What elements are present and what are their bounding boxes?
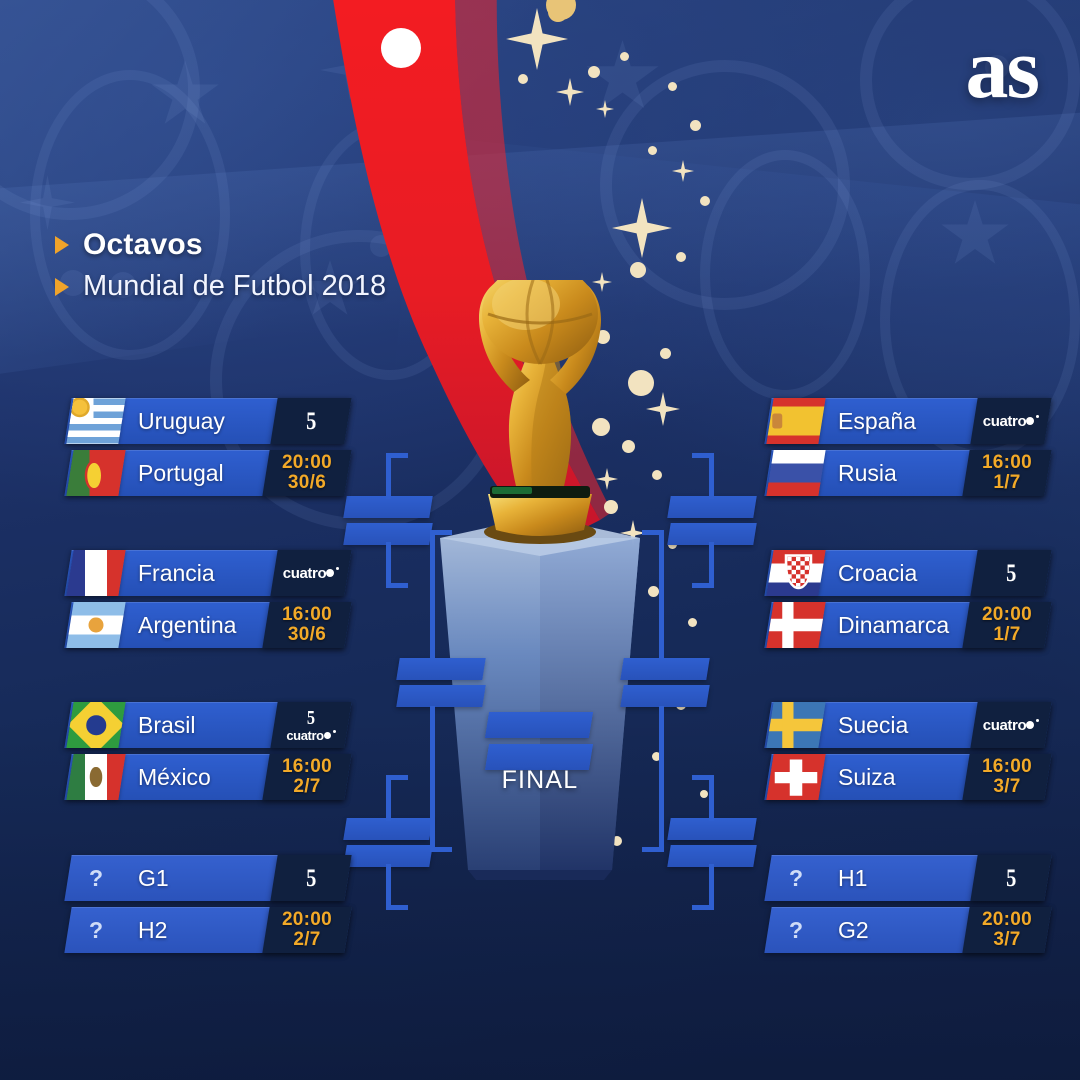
connector-stub <box>692 583 714 588</box>
match-slot-top[interactable]: ?H15 <box>768 855 1048 901</box>
flag-croacia <box>766 550 825 596</box>
chip-content: 16:003/7 <box>982 757 1032 797</box>
match-slot-bottom[interactable]: ?H220:002/7 <box>68 907 348 953</box>
chip-content: 5 <box>305 409 318 434</box>
chip-content: 5cuatro <box>286 708 335 742</box>
channel-logo-slot: 5 <box>305 866 318 891</box>
connector-stub <box>692 775 714 780</box>
slot-content: México16:002/7 <box>68 754 348 800</box>
team-name: H2 <box>122 917 266 944</box>
flag-graphic <box>66 602 125 648</box>
connector-stub <box>430 847 452 852</box>
match-date: 30/6 <box>282 625 332 645</box>
cuatro-logo-dot <box>326 569 334 577</box>
flag-mexico <box>66 754 125 800</box>
match-block[interactable]: ?H15?G220:003/7 <box>768 855 1048 953</box>
team-name: Suiza <box>822 764 966 791</box>
flag-graphic <box>766 550 825 596</box>
slot-content: Rusia16:001/7 <box>768 450 1048 496</box>
team-name: H1 <box>822 865 974 892</box>
match-slot-top[interactable]: Croacia5 <box>768 550 1048 596</box>
match-time-chip: 20:001/7 <box>966 602 1048 648</box>
flag-suecia <box>766 702 825 748</box>
match-slot-top[interactable]: ?G15 <box>68 855 348 901</box>
channel-logo-slot: 5 <box>1005 561 1018 586</box>
slot-content: Argentina16:0030/6 <box>68 602 348 648</box>
team-name: Portugal <box>122 460 266 487</box>
unknown-team-icon: ? <box>770 917 822 944</box>
connector-stub <box>642 530 664 535</box>
qf-slot-bar <box>343 818 432 840</box>
broadcast-channel-chip: 5cuatro <box>274 702 348 748</box>
team-name: Croacia <box>822 560 974 587</box>
match-time-chip: 20:002/7 <box>266 907 348 953</box>
cuatro-logo-accent <box>333 730 336 733</box>
match-date: 3/7 <box>982 777 1032 797</box>
team-name: G1 <box>122 865 274 892</box>
cuatro-logo-accent <box>336 567 339 570</box>
match-slot-bottom[interactable]: México16:002/7 <box>68 754 348 800</box>
chip-content: 16:001/7 <box>982 453 1032 493</box>
match-block[interactable]: Brasil5cuatroMéxico16:002/7 <box>68 702 348 800</box>
flag-graphic <box>766 450 825 496</box>
connector-line <box>430 706 435 852</box>
match-time-chip: 16:003/7 <box>966 754 1048 800</box>
title-row-primary: Octavos <box>55 228 386 262</box>
sf-slot-bar <box>396 658 485 680</box>
match-slot-top[interactable]: Franciacuatro <box>68 550 348 596</box>
slot-content: Croacia5 <box>768 550 1048 596</box>
page-title: Octavos <box>83 228 203 262</box>
team-name: España <box>822 408 974 435</box>
chip-content: cuatro <box>283 566 339 581</box>
match-block[interactable]: SueciacuatroSuiza16:003/7 <box>768 702 1048 800</box>
flag-espana <box>766 398 825 444</box>
connector-stub <box>386 775 408 780</box>
match-time-chip: 20:003/7 <box>966 907 1048 953</box>
as-logo[interactable]: as <box>966 28 1038 110</box>
slot-content: Suiza16:003/7 <box>768 754 1048 800</box>
match-block[interactable]: Croacia5Dinamarca20:001/7 <box>768 550 1048 648</box>
match-date: 30/6 <box>282 473 332 493</box>
chip-content: cuatro <box>983 718 1039 733</box>
connector-line <box>709 775 714 821</box>
flag-uruguay <box>66 398 125 444</box>
cuatro-logo-text: cuatro <box>283 566 326 581</box>
flag-graphic <box>66 702 125 748</box>
match-slot-bottom[interactable]: Suiza16:003/7 <box>768 754 1048 800</box>
telecinco-logo: 5 <box>1006 561 1016 586</box>
cuatro-logo: cuatro <box>286 729 335 742</box>
match-slot-bottom[interactable]: Rusia16:001/7 <box>768 450 1048 496</box>
slot-content: Uruguay5 <box>68 398 348 444</box>
triangle-right-icon <box>55 278 69 296</box>
match-date: 2/7 <box>282 777 332 797</box>
slot-content: ?H15 <box>768 855 1048 901</box>
cuatro-logo-text: cuatro <box>286 729 323 742</box>
team-name: Uruguay <box>122 408 274 435</box>
flag-brasil <box>66 702 125 748</box>
team-name: G2 <box>822 917 966 944</box>
telecinco-logo: 5 <box>1006 866 1016 891</box>
unknown-team-icon: ? <box>70 917 122 944</box>
slot-content: Portugal20:0030/6 <box>68 450 348 496</box>
connector-line <box>386 864 391 910</box>
connector-line <box>709 542 714 588</box>
connector-stub <box>386 905 408 910</box>
match-time: 20:00 <box>282 910 332 930</box>
chip-content: 5 <box>1005 866 1018 891</box>
flag-graphic <box>66 754 125 800</box>
match-slot-top[interactable]: Brasil5cuatro <box>68 702 348 748</box>
connector-stub <box>692 905 714 910</box>
team-name: Francia <box>122 560 274 587</box>
connector-stub <box>386 583 408 588</box>
flag-graphic <box>766 702 825 748</box>
broadcast-channel-chip: cuatro <box>274 550 348 596</box>
connector-line <box>430 530 435 658</box>
broadcast-channel-chip: 5 <box>974 855 1048 901</box>
match-date: 1/7 <box>982 473 1032 493</box>
chip-content: 5 <box>305 866 318 891</box>
connector-line <box>659 530 664 658</box>
match-slot-top[interactable]: Españacuatro <box>768 398 1048 444</box>
connector-line <box>386 542 391 588</box>
sf-slot-bar <box>396 685 485 707</box>
match-time-chip: 16:0030/6 <box>266 602 348 648</box>
connector-line <box>386 775 391 821</box>
channel-logo-slot: cuatro <box>983 414 1039 429</box>
match-slot-bottom[interactable]: ?G220:003/7 <box>768 907 1048 953</box>
unknown-team-icon: ? <box>770 865 822 892</box>
channel-logo-slot: 5 <box>286 708 335 729</box>
cuatro-logo-dot <box>324 732 331 739</box>
flag-rusia <box>766 450 825 496</box>
match-block[interactable]: EspañacuatroRusia16:001/7 <box>768 398 1048 496</box>
chip-content: 16:0030/6 <box>282 605 332 645</box>
connector-stub <box>386 453 408 458</box>
broadcast-channel-chip: cuatro <box>974 702 1048 748</box>
team-name: Argentina <box>122 612 266 639</box>
page-title-block: Octavos Mundial de Futbol 2018 <box>55 228 386 303</box>
flag-argentina <box>66 602 125 648</box>
flag-graphic <box>766 754 825 800</box>
match-block[interactable]: ?G15?H220:002/7 <box>68 855 348 953</box>
team-name: Suecia <box>822 712 974 739</box>
slot-content: Franciacuatro <box>68 550 348 596</box>
flag-dinamarca <box>766 602 825 648</box>
cuatro-logo: cuatro <box>283 566 339 581</box>
page-subtitle: Mundial de Futbol 2018 <box>83 270 386 303</box>
sf-slot-bar <box>620 658 709 680</box>
slot-content: Brasil5cuatro <box>68 702 348 748</box>
unknown-team-icon: ? <box>70 865 122 892</box>
match-time: 16:00 <box>982 757 1032 777</box>
slot-content: Españacuatro <box>768 398 1048 444</box>
flag-graphic <box>766 602 825 648</box>
match-date: 3/7 <box>982 930 1032 950</box>
triangle-right-icon <box>55 236 69 254</box>
channel-logo-slot: cuatro <box>983 718 1039 733</box>
chip-content: 20:002/7 <box>282 910 332 950</box>
match-time: 20:00 <box>982 910 1032 930</box>
match-time-chip: 16:002/7 <box>266 754 348 800</box>
team-name: México <box>122 764 266 791</box>
match-date: 1/7 <box>982 625 1032 645</box>
slot-content: Sueciacuatro <box>768 702 1048 748</box>
match-time: 16:00 <box>282 757 332 777</box>
connector-line <box>709 453 714 499</box>
flag-francia <box>66 550 125 596</box>
cuatro-logo-dot <box>1026 721 1034 729</box>
flag-graphic <box>66 398 125 444</box>
match-slot-top[interactable]: Uruguay5 <box>68 398 348 444</box>
match-time: 20:00 <box>982 605 1032 625</box>
qf-slot-bar <box>667 818 756 840</box>
cuatro-logo-text: cuatro <box>983 414 1026 429</box>
final-label: FINAL <box>440 766 640 795</box>
team-name: Brasil <box>122 712 274 739</box>
chip-content: 20:001/7 <box>982 605 1032 645</box>
slot-content: ?G220:003/7 <box>768 907 1048 953</box>
connector-line <box>659 706 664 852</box>
cuatro-logo-accent <box>1036 415 1039 418</box>
match-time-chip: 16:001/7 <box>966 450 1048 496</box>
flag-portugal <box>66 450 125 496</box>
cuatro-logo: cuatro <box>983 718 1039 733</box>
telecinco-logo: 5 <box>306 866 316 891</box>
match-time-chip: 20:0030/6 <box>266 450 348 496</box>
connector-line <box>709 864 714 910</box>
chip-content: 5 <box>1005 561 1018 586</box>
chip-content: 20:003/7 <box>982 910 1032 950</box>
match-block[interactable]: Uruguay5Portugal20:0030/6 <box>68 398 348 496</box>
match-time: 16:00 <box>282 605 332 625</box>
title-row-secondary: Mundial de Futbol 2018 <box>55 270 386 303</box>
chip-content: cuatro <box>983 414 1039 429</box>
match-time: 20:00 <box>282 453 332 473</box>
broadcast-channel-chip: 5 <box>274 855 348 901</box>
cuatro-logo-accent <box>1036 719 1039 722</box>
cuatro-logo-text: cuatro <box>983 718 1026 733</box>
channel-logo-slot: 5 <box>305 409 318 434</box>
broadcast-channel-chip: 5 <box>274 398 348 444</box>
connector-stub <box>642 847 664 852</box>
match-slot-bottom[interactable]: Portugal20:0030/6 <box>68 450 348 496</box>
connector-line <box>386 453 391 499</box>
team-name: Rusia <box>822 460 966 487</box>
chip-content: 20:0030/6 <box>282 453 332 493</box>
slot-content: ?G15 <box>68 855 348 901</box>
cuatro-logo: cuatro <box>983 414 1039 429</box>
cuatro-logo-dot <box>1026 417 1034 425</box>
slot-content: ?H220:002/7 <box>68 907 348 953</box>
qf-slot-bar <box>343 496 432 518</box>
match-slot-top[interactable]: Sueciacuatro <box>768 702 1048 748</box>
sf-slot-bar <box>620 685 709 707</box>
channel-logo-slot: 5 <box>1005 866 1018 891</box>
team-name: Dinamarca <box>822 612 966 639</box>
flag-graphic <box>66 550 125 596</box>
flag-suiza <box>766 754 825 800</box>
match-time: 16:00 <box>982 453 1032 473</box>
broadcast-channel-chip: 5 <box>974 550 1048 596</box>
final-slot-bar <box>485 712 593 738</box>
slot-content: Dinamarca20:001/7 <box>768 602 1048 648</box>
telecinco-logo: 5 <box>307 708 315 728</box>
channel-logo-slot: cuatro <box>286 729 335 742</box>
channel-logo-slot: cuatro <box>283 566 339 581</box>
broadcast-channel-chip: cuatro <box>974 398 1048 444</box>
match-block[interactable]: FranciacuatroArgentina16:0030/6 <box>68 550 348 648</box>
flag-graphic <box>766 398 825 444</box>
match-date: 2/7 <box>282 930 332 950</box>
match-slot-bottom[interactable]: Dinamarca20:001/7 <box>768 602 1048 648</box>
flag-graphic <box>66 450 125 496</box>
telecinco-logo: 5 <box>306 409 316 434</box>
connector-stub <box>692 453 714 458</box>
match-slot-bottom[interactable]: Argentina16:0030/6 <box>68 602 348 648</box>
chip-content: 16:002/7 <box>282 757 332 797</box>
qf-slot-bar <box>667 496 756 518</box>
connector-stub <box>430 530 452 535</box>
